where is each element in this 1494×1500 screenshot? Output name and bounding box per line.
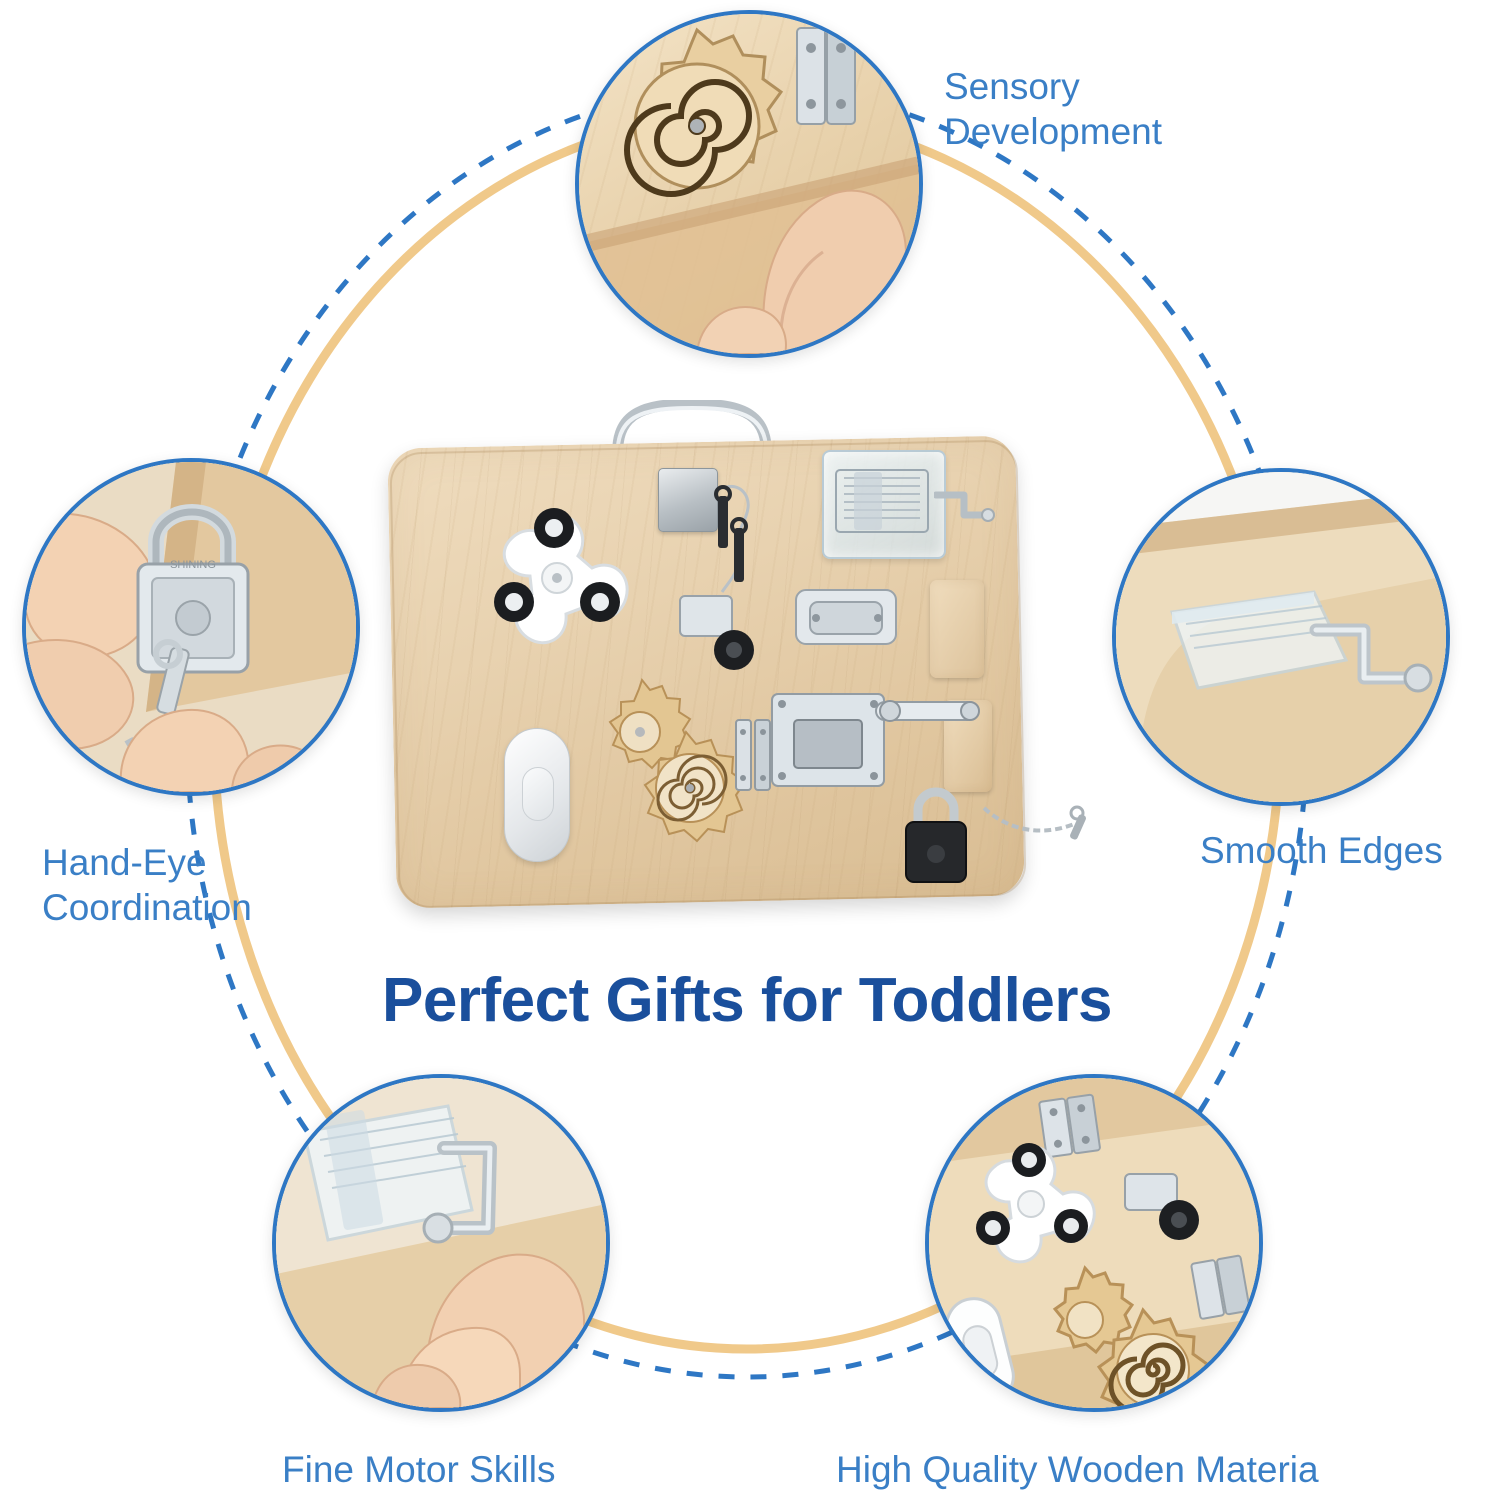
page-title: Perfect Gifts for Toddlers — [0, 965, 1494, 1036]
callout-bubble-fine-motor — [272, 1074, 610, 1412]
metal-hinge — [734, 716, 772, 794]
callout-image-smooth-edges — [1116, 472, 1446, 802]
oval-switch — [504, 728, 570, 862]
svg-text:SHINING: SHINING — [170, 559, 216, 571]
wood-block — [930, 580, 984, 678]
key-on-chain — [982, 798, 1112, 858]
callout-image-sensory — [579, 14, 919, 354]
callout-image-quality — [929, 1078, 1259, 1408]
callout-image-fine-motor — [276, 1078, 606, 1408]
callout-bubble-hand-eye: SHINING — [22, 458, 360, 796]
toggle-latch — [792, 580, 904, 654]
callout-label-quality: High Quality Wooden Materia — [836, 1447, 1319, 1492]
fidget-spinner-icon — [474, 498, 634, 648]
music-box-crank — [934, 485, 996, 529]
callout-bubble-sensory — [575, 10, 923, 358]
callout-label-hand-eye: Hand-Eye Coordination — [42, 840, 252, 930]
callout-label-fine-motor: Fine Motor Skills — [282, 1447, 555, 1492]
product-image — [382, 380, 1042, 940]
music-box — [822, 450, 946, 559]
callout-bubble-smooth-edges — [1112, 468, 1450, 806]
roller-wheel — [672, 590, 768, 674]
callout-label-sensory: Sensory Development — [944, 64, 1162, 154]
black-padlock — [894, 780, 978, 890]
callout-image-hand-eye: SHINING — [26, 462, 356, 792]
callout-label-smooth-edges: Smooth Edges — [1200, 828, 1443, 873]
callout-bubble-quality — [925, 1074, 1263, 1412]
poster-canvas: Sensory Development SHINING — [0, 0, 1494, 1500]
